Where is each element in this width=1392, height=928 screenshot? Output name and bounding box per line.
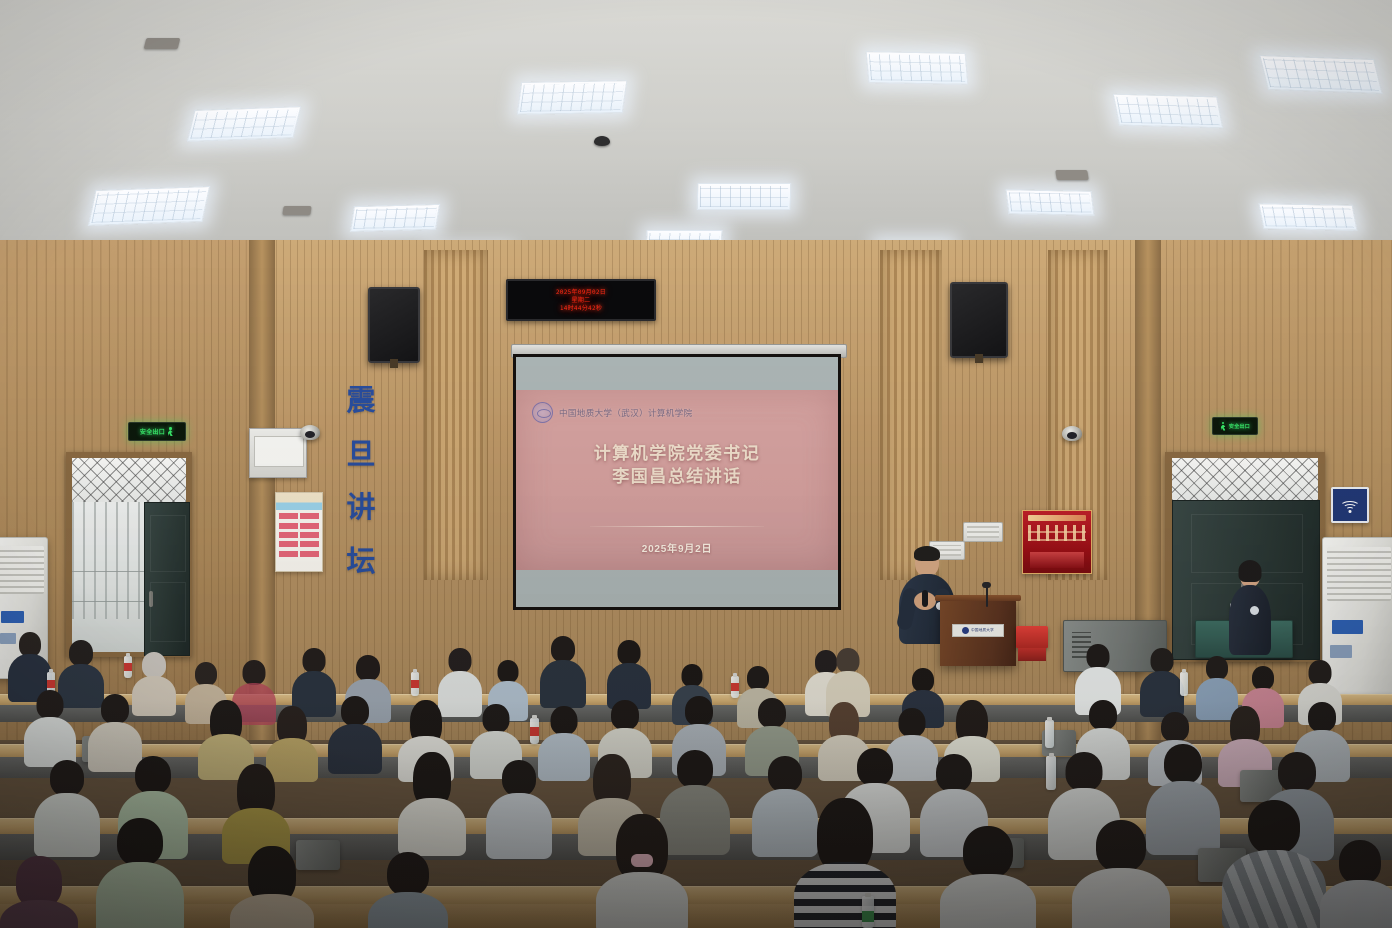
audience-member-foreground — [368, 852, 448, 928]
slide-date: 2025年9月2日 — [516, 540, 838, 555]
ceiling-vent — [1055, 170, 1089, 180]
torso — [1072, 868, 1170, 928]
desk-surface — [0, 886, 1392, 905]
audience-member-foreground — [794, 798, 896, 928]
head — [963, 826, 1013, 878]
head — [837, 648, 860, 673]
poster-title-bar — [1028, 515, 1085, 521]
poster-row — [279, 532, 319, 538]
torso — [398, 798, 466, 856]
head — [195, 662, 217, 686]
exit-sign-right: 安全出口 — [1212, 417, 1258, 435]
red-plastic-stool — [1016, 626, 1048, 648]
ceiling-vent — [144, 38, 181, 49]
torso — [230, 894, 314, 928]
audience-member — [398, 752, 466, 850]
ceiling-vent — [282, 206, 311, 215]
right-door-transom — [1172, 458, 1318, 500]
projection-screen: 中国地质大学（武汉）计算机学院 计算机学院党委书记 李国昌总结讲话 2025年9… — [511, 344, 845, 612]
screen-bottom-band — [516, 570, 838, 607]
dome-camera-left — [300, 425, 320, 440]
audience-member — [607, 640, 651, 704]
poster-text-grid — [1028, 525, 1085, 541]
water-bottle — [1045, 720, 1054, 748]
ceiling-light-panel — [517, 80, 628, 115]
audience-member-foreground — [1072, 820, 1170, 928]
torso — [0, 900, 78, 928]
ceiling-light-panel — [697, 183, 791, 210]
head — [1087, 644, 1110, 669]
head — [502, 760, 536, 796]
ac-grille — [1327, 547, 1390, 601]
ceiling-light-panel — [1113, 94, 1224, 129]
head — [69, 640, 93, 666]
led-date-time-display: 2025年09月02日 星期二 14时44分42秒 — [506, 279, 656, 321]
slide-header-text: 中国地质大学（武汉）计算机学院 — [559, 407, 693, 419]
hair-tie — [631, 854, 653, 867]
audience-member — [826, 648, 870, 710]
wall-speaker-left — [368, 287, 420, 363]
head — [912, 668, 934, 692]
audience-member — [24, 690, 76, 760]
slide-divider — [590, 526, 764, 527]
wall-ac-vent — [963, 522, 1003, 542]
water-bottle — [1180, 672, 1188, 696]
speaking-podium: 中国地质大学 — [940, 600, 1016, 666]
poster-row — [279, 523, 319, 529]
head — [685, 696, 713, 726]
torso — [940, 874, 1036, 928]
ac-grille — [0, 546, 44, 594]
red-event-poster — [1022, 510, 1092, 574]
podium-microphone-head — [982, 582, 991, 588]
exit-sign-left: 安全出口 — [128, 422, 186, 441]
head — [758, 698, 786, 728]
exit-sign-left-label: 安全出口 — [140, 427, 165, 436]
water-bottle — [1046, 756, 1056, 790]
head — [1066, 752, 1103, 791]
torso — [1140, 671, 1184, 717]
head — [682, 664, 703, 687]
head — [303, 648, 326, 673]
slide-title-line-2: 李国昌总结讲话 — [516, 465, 838, 488]
torso — [34, 793, 100, 857]
poster-image — [1030, 552, 1084, 568]
head — [101, 694, 129, 724]
head — [50, 760, 84, 796]
staff-badge — [1250, 606, 1259, 615]
led-line-date: 2025年09月02日 — [556, 289, 606, 296]
left-door-leaf[interactable] — [144, 502, 190, 656]
calligraphy-char-4: 坛 — [346, 547, 375, 576]
audience-member-foreground — [0, 856, 78, 928]
wifi-icon — [1340, 498, 1360, 513]
acoustic-flute-panel — [880, 250, 942, 580]
podium-logo-icon — [962, 627, 969, 634]
torso — [328, 724, 382, 774]
head — [1089, 700, 1117, 730]
head — [551, 706, 578, 735]
audience-member — [1140, 648, 1184, 710]
standing-staff-member — [1228, 562, 1272, 658]
transom-grille — [1172, 458, 1318, 500]
exterior-railing — [72, 502, 144, 619]
ceiling-light-panel — [866, 51, 969, 85]
audience-member — [486, 760, 552, 854]
running-man-icon — [1220, 422, 1227, 431]
slide-title: 计算机学院党委书记 李国昌总结讲话 — [516, 442, 838, 489]
torso — [1320, 880, 1392, 928]
dome-camera-right — [1062, 426, 1082, 441]
running-man-icon — [167, 427, 174, 436]
water-bottle — [411, 672, 419, 696]
podium-nameplate: 中国地质大学 — [952, 624, 1004, 637]
podium-plate-text: 中国地质大学 — [971, 628, 994, 633]
av-control-panel[interactable] — [249, 428, 307, 478]
head — [768, 756, 802, 792]
audience-member-foreground — [230, 846, 314, 928]
ac-control-panel[interactable] — [1330, 645, 1352, 658]
head — [899, 708, 926, 737]
torso — [540, 660, 586, 708]
staff-hair — [1239, 560, 1262, 582]
desk-skirt — [0, 904, 1392, 928]
head — [483, 704, 510, 733]
wall-speaker-right — [950, 282, 1008, 358]
ceiling-light-panel — [88, 186, 210, 226]
head — [117, 818, 163, 866]
audience-member — [328, 696, 382, 768]
audience-member — [222, 764, 290, 858]
podium-microphone-stand — [986, 585, 988, 607]
ac-badge — [1, 611, 24, 624]
wifi-sign — [1331, 487, 1369, 523]
head — [618, 640, 641, 665]
torso — [596, 872, 688, 928]
staff-torso — [1229, 585, 1271, 655]
calligraphy-char-3: 讲 — [346, 493, 375, 522]
head — [1248, 800, 1300, 854]
torso — [1222, 850, 1326, 928]
handheld-microphone[interactable] — [922, 590, 928, 607]
torso — [486, 793, 552, 859]
ceiling-light-panel — [187, 106, 302, 142]
screen-surface: 中国地质大学（武汉）计算机学院 计算机学院党委书记 李国昌总结讲话 2025年9… — [516, 357, 838, 607]
audience-member-foreground — [1222, 800, 1326, 928]
head — [341, 696, 369, 726]
screen-top-band — [516, 357, 838, 390]
head — [449, 648, 472, 673]
information-poster — [275, 492, 323, 572]
head — [498, 660, 519, 683]
left-doorway-opening — [72, 502, 144, 652]
screen-frame: 中国地质大学（武汉）计算机学院 计算机学院党委书记 李国昌总结讲话 2025年9… — [513, 354, 841, 610]
head — [1206, 656, 1228, 680]
head — [243, 660, 266, 685]
head — [356, 655, 380, 681]
head — [1278, 752, 1316, 792]
led-line-time: 14时44分42秒 — [560, 305, 602, 312]
head — [1309, 660, 1332, 685]
torso — [794, 862, 896, 928]
slide-header: 中国地质大学（武汉）计算机学院 — [532, 402, 693, 423]
poster-row — [279, 551, 319, 557]
acoustic-flute-panel — [424, 250, 488, 580]
head — [1151, 648, 1174, 673]
head — [1161, 712, 1189, 742]
ceiling-light-panel — [1005, 189, 1094, 216]
head — [611, 700, 639, 730]
ceiling-dome-camera-icon — [594, 136, 610, 146]
wall-calligraphy: 震 旦 讲 坛 — [338, 386, 384, 576]
head — [37, 690, 64, 719]
head — [936, 754, 972, 792]
calligraphy-char-1: 震 — [346, 386, 375, 415]
poster-row — [279, 541, 319, 547]
podium-top-surface — [935, 595, 1021, 601]
slide-title-line-1: 计算机学院党委书记 — [516, 442, 838, 465]
water-bottle — [731, 676, 739, 698]
transom-grille — [72, 458, 186, 502]
ac-badge — [1332, 620, 1364, 634]
head — [551, 636, 575, 662]
torso — [368, 892, 448, 928]
calligraphy-char-2: 旦 — [346, 440, 375, 469]
ceiling-light-panel — [1259, 55, 1383, 94]
presenter-hair — [914, 546, 940, 561]
audience-member-foreground — [940, 826, 1036, 928]
head — [1308, 702, 1336, 732]
ceiling-light-panel — [350, 204, 440, 232]
water-bottle — [862, 896, 874, 928]
head — [1339, 840, 1381, 884]
presentation-slide: 中国地质大学（武汉）计算机学院 计算机学院党委书记 李国昌总结讲话 2025年9… — [516, 390, 838, 570]
audience-member-foreground — [1320, 840, 1392, 928]
torso — [96, 862, 184, 928]
audience-member — [8, 632, 52, 698]
poster-row — [279, 513, 319, 519]
head — [1164, 744, 1202, 784]
head — [1096, 820, 1146, 872]
exit-sign-right-label: 安全出口 — [1229, 423, 1250, 430]
audience-member — [540, 636, 586, 702]
audience-member — [198, 700, 254, 772]
water-bottle — [530, 718, 539, 744]
door-handle[interactable] — [149, 591, 153, 607]
head — [857, 748, 893, 786]
ceiling-light-panel — [1258, 203, 1357, 231]
audience-member — [34, 760, 100, 852]
audience-member-foreground — [596, 814, 688, 928]
left-door-transom — [72, 458, 186, 502]
desk-row-foreground — [0, 886, 1392, 928]
head — [747, 666, 769, 690]
lecture-hall-photo: 2025年09月02日 星期二 14时44分42秒 中国地质大学（武汉）计算机学… — [0, 0, 1392, 928]
audience-member-foreground — [96, 818, 184, 928]
head — [142, 652, 166, 678]
head — [1252, 666, 1274, 690]
audience-member — [88, 694, 142, 764]
water-bottle — [124, 656, 132, 678]
audience-member — [1075, 644, 1121, 708]
led-line-weekday: 星期二 — [572, 297, 591, 304]
head — [387, 852, 429, 896]
head — [677, 750, 713, 788]
university-emblem-icon — [532, 402, 553, 423]
head — [135, 756, 171, 794]
